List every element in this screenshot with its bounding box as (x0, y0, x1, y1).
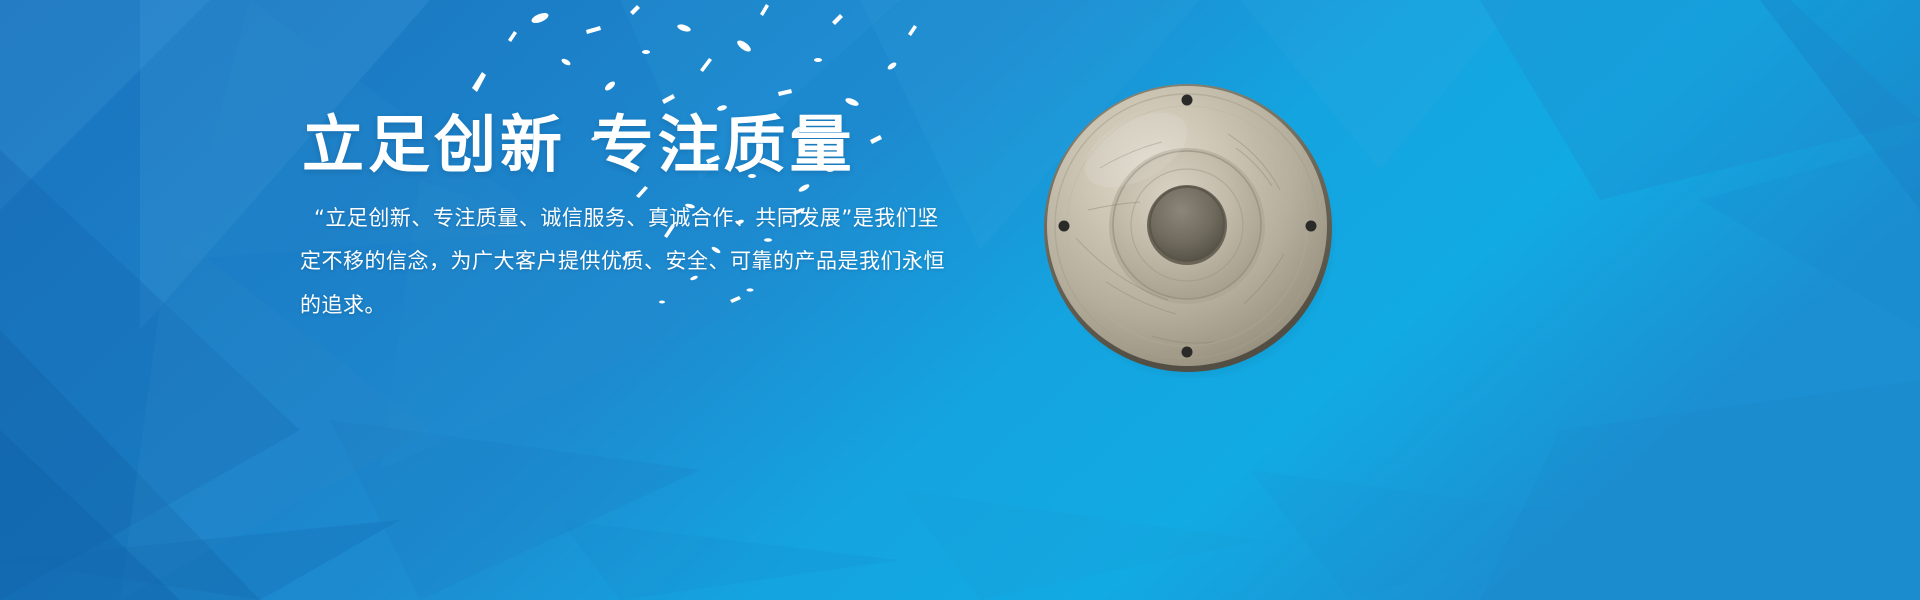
paragraph-line: 的追求。 (300, 284, 950, 327)
product-image-metal-flange (1040, 78, 1340, 378)
paragraph-line: “立足创新、专注质量、诚信服务、真诚合作、共同发展”是我们坚 (300, 197, 950, 240)
banner-text-block: 立足创新 专注质量 “立足创新、专注质量、诚信服务、真诚合作、共同发展”是我们坚… (300, 110, 960, 327)
promo-banner: 立足创新 专注质量 “立足创新、专注质量、诚信服务、真诚合作、共同发展”是我们坚… (0, 0, 1920, 600)
banner-headline: 立足创新 专注质量 (302, 110, 960, 179)
paragraph-line: 定不移的信念，为广大客户提供优质、安全、可靠的产品是我们永恒 (300, 240, 950, 283)
background-facets (0, 0, 1920, 600)
banner-paragraph: “立足创新、专注质量、诚信服务、真诚合作、共同发展”是我们坚 定不移的信念，为广… (300, 197, 950, 326)
